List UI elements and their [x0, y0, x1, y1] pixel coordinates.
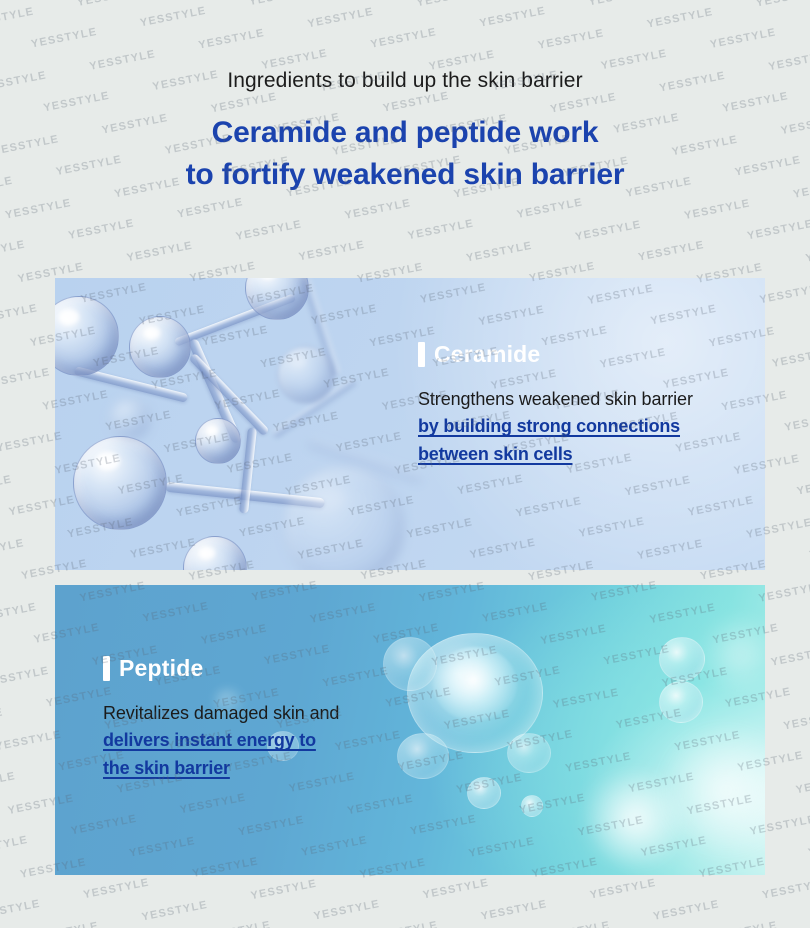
- peptide-body-link-2: the skin barrier: [103, 755, 339, 782]
- watermark-row: YESSTYLEYESSTYLEYESSTYLEYESSTYLEYESSTYLE…: [0, 898, 810, 928]
- ceramide-body-link-1: by building strong connections: [418, 413, 693, 440]
- peptide-heading-row: Peptide: [103, 656, 339, 681]
- header-subtitle: Ingredients to build up the skin barrier: [0, 0, 810, 94]
- ceramide-copy-block: Ceramide Strengthens weakened skin barri…: [418, 342, 693, 468]
- page-title: Ceramide and peptide work to fortify wea…: [0, 94, 810, 195]
- peptide-body-plain: Revitalizes damaged skin and: [103, 700, 339, 727]
- ceramide-heading: Ceramide: [434, 343, 540, 366]
- ceramide-body-plain: Strengthens weakened skin barrier: [418, 386, 693, 413]
- panel-ceramide: Ceramide Strengthens weakened skin barri…: [55, 278, 765, 570]
- accent-bar-icon: [103, 656, 110, 681]
- page-header: Ingredients to build up the skin barrier…: [0, 0, 810, 252]
- peptide-heading: Peptide: [119, 657, 203, 680]
- page-title-line-1: Ceramide and peptide work: [0, 112, 810, 153]
- peptide-body: Revitalizes damaged skin and delivers in…: [103, 700, 339, 782]
- watermark-row: YESSTYLEYESSTYLEYESSTYLEYESSTYLEYESSTYLE…: [0, 866, 810, 928]
- peptide-copy-block: Peptide Revitalizes damaged skin and del…: [103, 656, 339, 782]
- ceramide-body: Strengthens weakened skin barrier by bui…: [418, 386, 693, 468]
- page-title-line-2: to fortify weakened skin barrier: [0, 154, 810, 195]
- accent-bar-icon: [418, 342, 425, 367]
- panel-peptide: Peptide Revitalizes damaged skin and del…: [55, 585, 765, 875]
- ceramide-body-link-2: between skin cells: [418, 441, 693, 468]
- ceramide-heading-row: Ceramide: [418, 342, 693, 367]
- peptide-body-link-1: delivers instant energy to: [103, 727, 339, 754]
